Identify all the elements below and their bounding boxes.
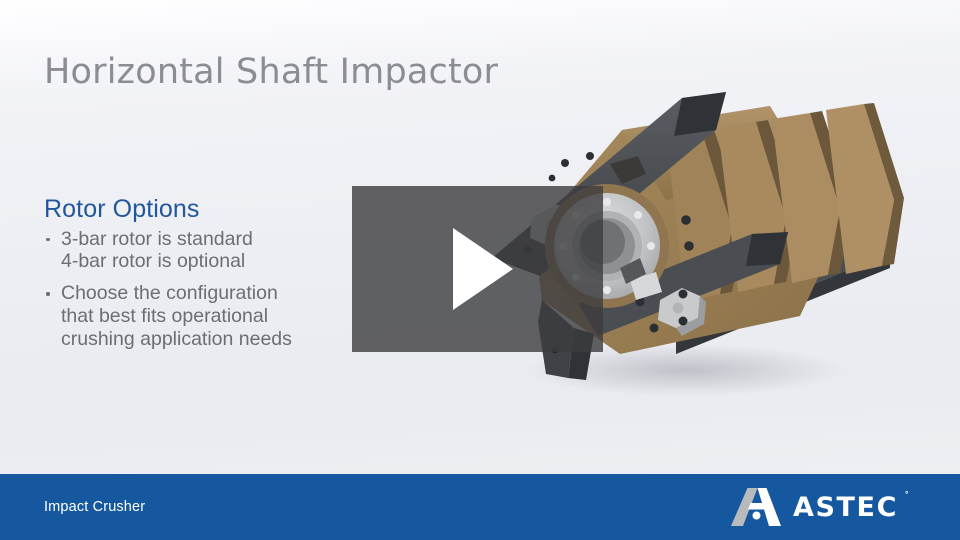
list-item: 3-bar rotor is standard 4-bar rotor is o… xyxy=(44,228,344,274)
trademark-symbol: ˚ xyxy=(905,493,910,502)
play-triangle-icon[interactable] xyxy=(453,228,513,310)
footer-bar: Impact Crusher ASTEC ˚ xyxy=(0,474,960,540)
bullet-dot-icon xyxy=(46,238,50,242)
section-heading: Rotor Options xyxy=(44,196,344,224)
list-item: Choose the configuration that best fits … xyxy=(44,282,344,350)
bullet-list: 3-bar rotor is standard 4-bar rotor is o… xyxy=(44,228,344,351)
video-play-overlay[interactable] xyxy=(352,186,603,352)
footer-title: Impact Crusher xyxy=(44,499,145,515)
bullet-line: 3-bar rotor is standard xyxy=(61,228,344,251)
bullet-line: 4-bar rotor is optional xyxy=(61,250,344,273)
bullet-line: Choose the configuration xyxy=(61,282,344,305)
slide-canvas: Horizontal Shaft Impactor Rotor Options … xyxy=(0,0,960,540)
astec-wordmark: ASTEC ˚ xyxy=(793,494,898,521)
bullet-line: crushing application needs xyxy=(61,328,344,351)
bullet-line: that best fits operational xyxy=(61,305,344,328)
content-text-block: Rotor Options 3-bar rotor is standard 4-… xyxy=(44,196,344,360)
bullet-dot-icon xyxy=(46,292,50,296)
astec-a-mark-icon xyxy=(730,487,782,527)
astec-logo: ASTEC ˚ xyxy=(730,487,898,527)
page-title: Horizontal Shaft Impactor xyxy=(44,52,498,92)
astec-wordmark-text: ASTEC xyxy=(793,492,898,523)
